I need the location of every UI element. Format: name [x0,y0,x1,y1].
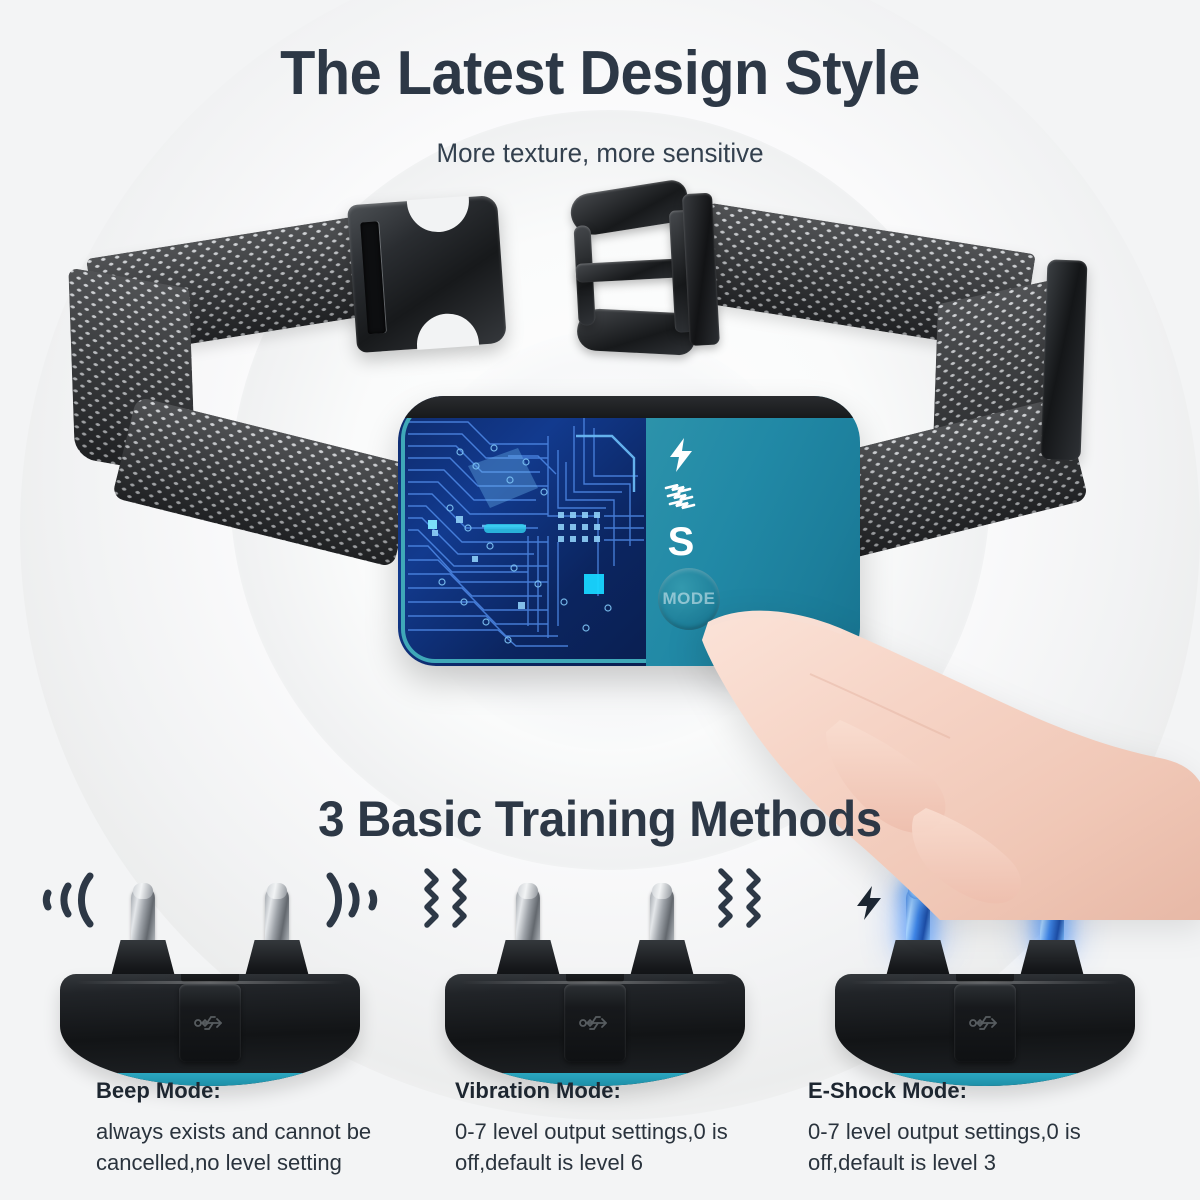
contact-prong-right [265,886,289,946]
caption-beep: Beep Mode: always exists and cannot be c… [96,1078,456,1178]
section-title: 3 Basic Training Methods [30,790,1170,848]
device-teal-bezel [401,399,648,663]
vibration-waves-icon [664,484,698,510]
vibration-zigzag-left-icon [417,865,479,940]
caption-description: 0-7 level output settings,0 is off,defau… [455,1116,815,1178]
sound-waves-left-icon [16,858,102,942]
usb-port-cover [564,984,626,1062]
contact-prong-right [650,886,674,946]
usb-port-cover [179,984,241,1062]
page-title: The Latest Design Style [42,38,1158,109]
receiver-body [60,974,360,1086]
circuit-board-graphic [398,396,648,666]
receiver-body [445,974,745,1086]
strap-adjuster-keeper [1041,259,1088,460]
buckle-strap-slot [360,221,386,334]
caption-title: E-Shock Mode: [808,1078,1168,1104]
caption-title: Beep Mode: [96,1078,456,1104]
receiver-body [835,974,1135,1086]
caption-title: Vibration Mode: [455,1078,815,1104]
shock-bolt-icon [668,438,694,472]
caption-vibration: Vibration Mode: 0-7 level output setting… [455,1078,815,1178]
hand-pressing-mode-button [690,570,1200,920]
device-face-icon-group: S [664,438,698,562]
page-subtitle: More texture, more sensitive [24,138,1176,169]
mode-illustration-beep [10,862,410,1092]
contact-prong-left [516,886,540,946]
caption-description: always exists and cannot be cancelled,no… [96,1116,456,1178]
caption-description: 0-7 level output settings,0 is off,defau… [808,1116,1168,1178]
usb-port-cover [954,984,1016,1062]
buckle-male-prongs [556,187,744,356]
collar-strap-bottom-left [112,396,419,567]
sound-waves-right-icon [318,858,404,942]
buckle-female-socket [347,195,507,353]
contact-prong-left [131,886,155,946]
mode-captions: Beep Mode: always exists and cannot be c… [0,1078,1200,1198]
device-top-lip [398,396,860,418]
caption-eshock: E-Shock Mode: 0-7 level output settings,… [808,1078,1168,1178]
sound-s-icon: S [668,522,695,562]
